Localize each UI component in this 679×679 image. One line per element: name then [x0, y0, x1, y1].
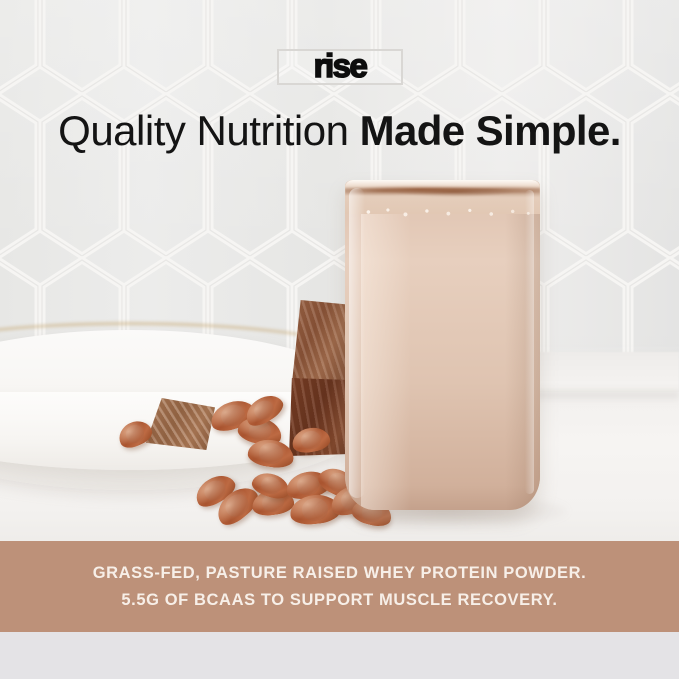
foam-bubbles	[345, 202, 540, 222]
shake-liquid	[345, 206, 540, 510]
glass-highlight-left	[349, 188, 365, 498]
product-advertisement: rise Quality Nutrition Made Simple. GRAS…	[0, 0, 679, 679]
claims-banner: GRASS-FED, PASTURE RAISED WHEY PROTEIN P…	[0, 541, 679, 632]
headline-light-part: Quality Nutrition	[58, 107, 359, 154]
brand-logo: rise	[277, 49, 403, 85]
glass-highlight-right	[525, 190, 534, 494]
headline: Quality Nutrition Made Simple.	[0, 110, 679, 152]
glass-of-protein-shake	[345, 180, 540, 510]
headline-bold-part: Made Simple.	[360, 107, 621, 154]
glass-rim	[345, 180, 540, 189]
brand-logo-text: rise	[314, 49, 367, 85]
footer-strip	[0, 632, 679, 679]
claims-banner-line-2: 5.5G OF BCAAS TO SUPPORT MUSCLE RECOVERY…	[121, 587, 557, 614]
claims-banner-line-1: GRASS-FED, PASTURE RAISED WHEY PROTEIN P…	[93, 560, 587, 587]
